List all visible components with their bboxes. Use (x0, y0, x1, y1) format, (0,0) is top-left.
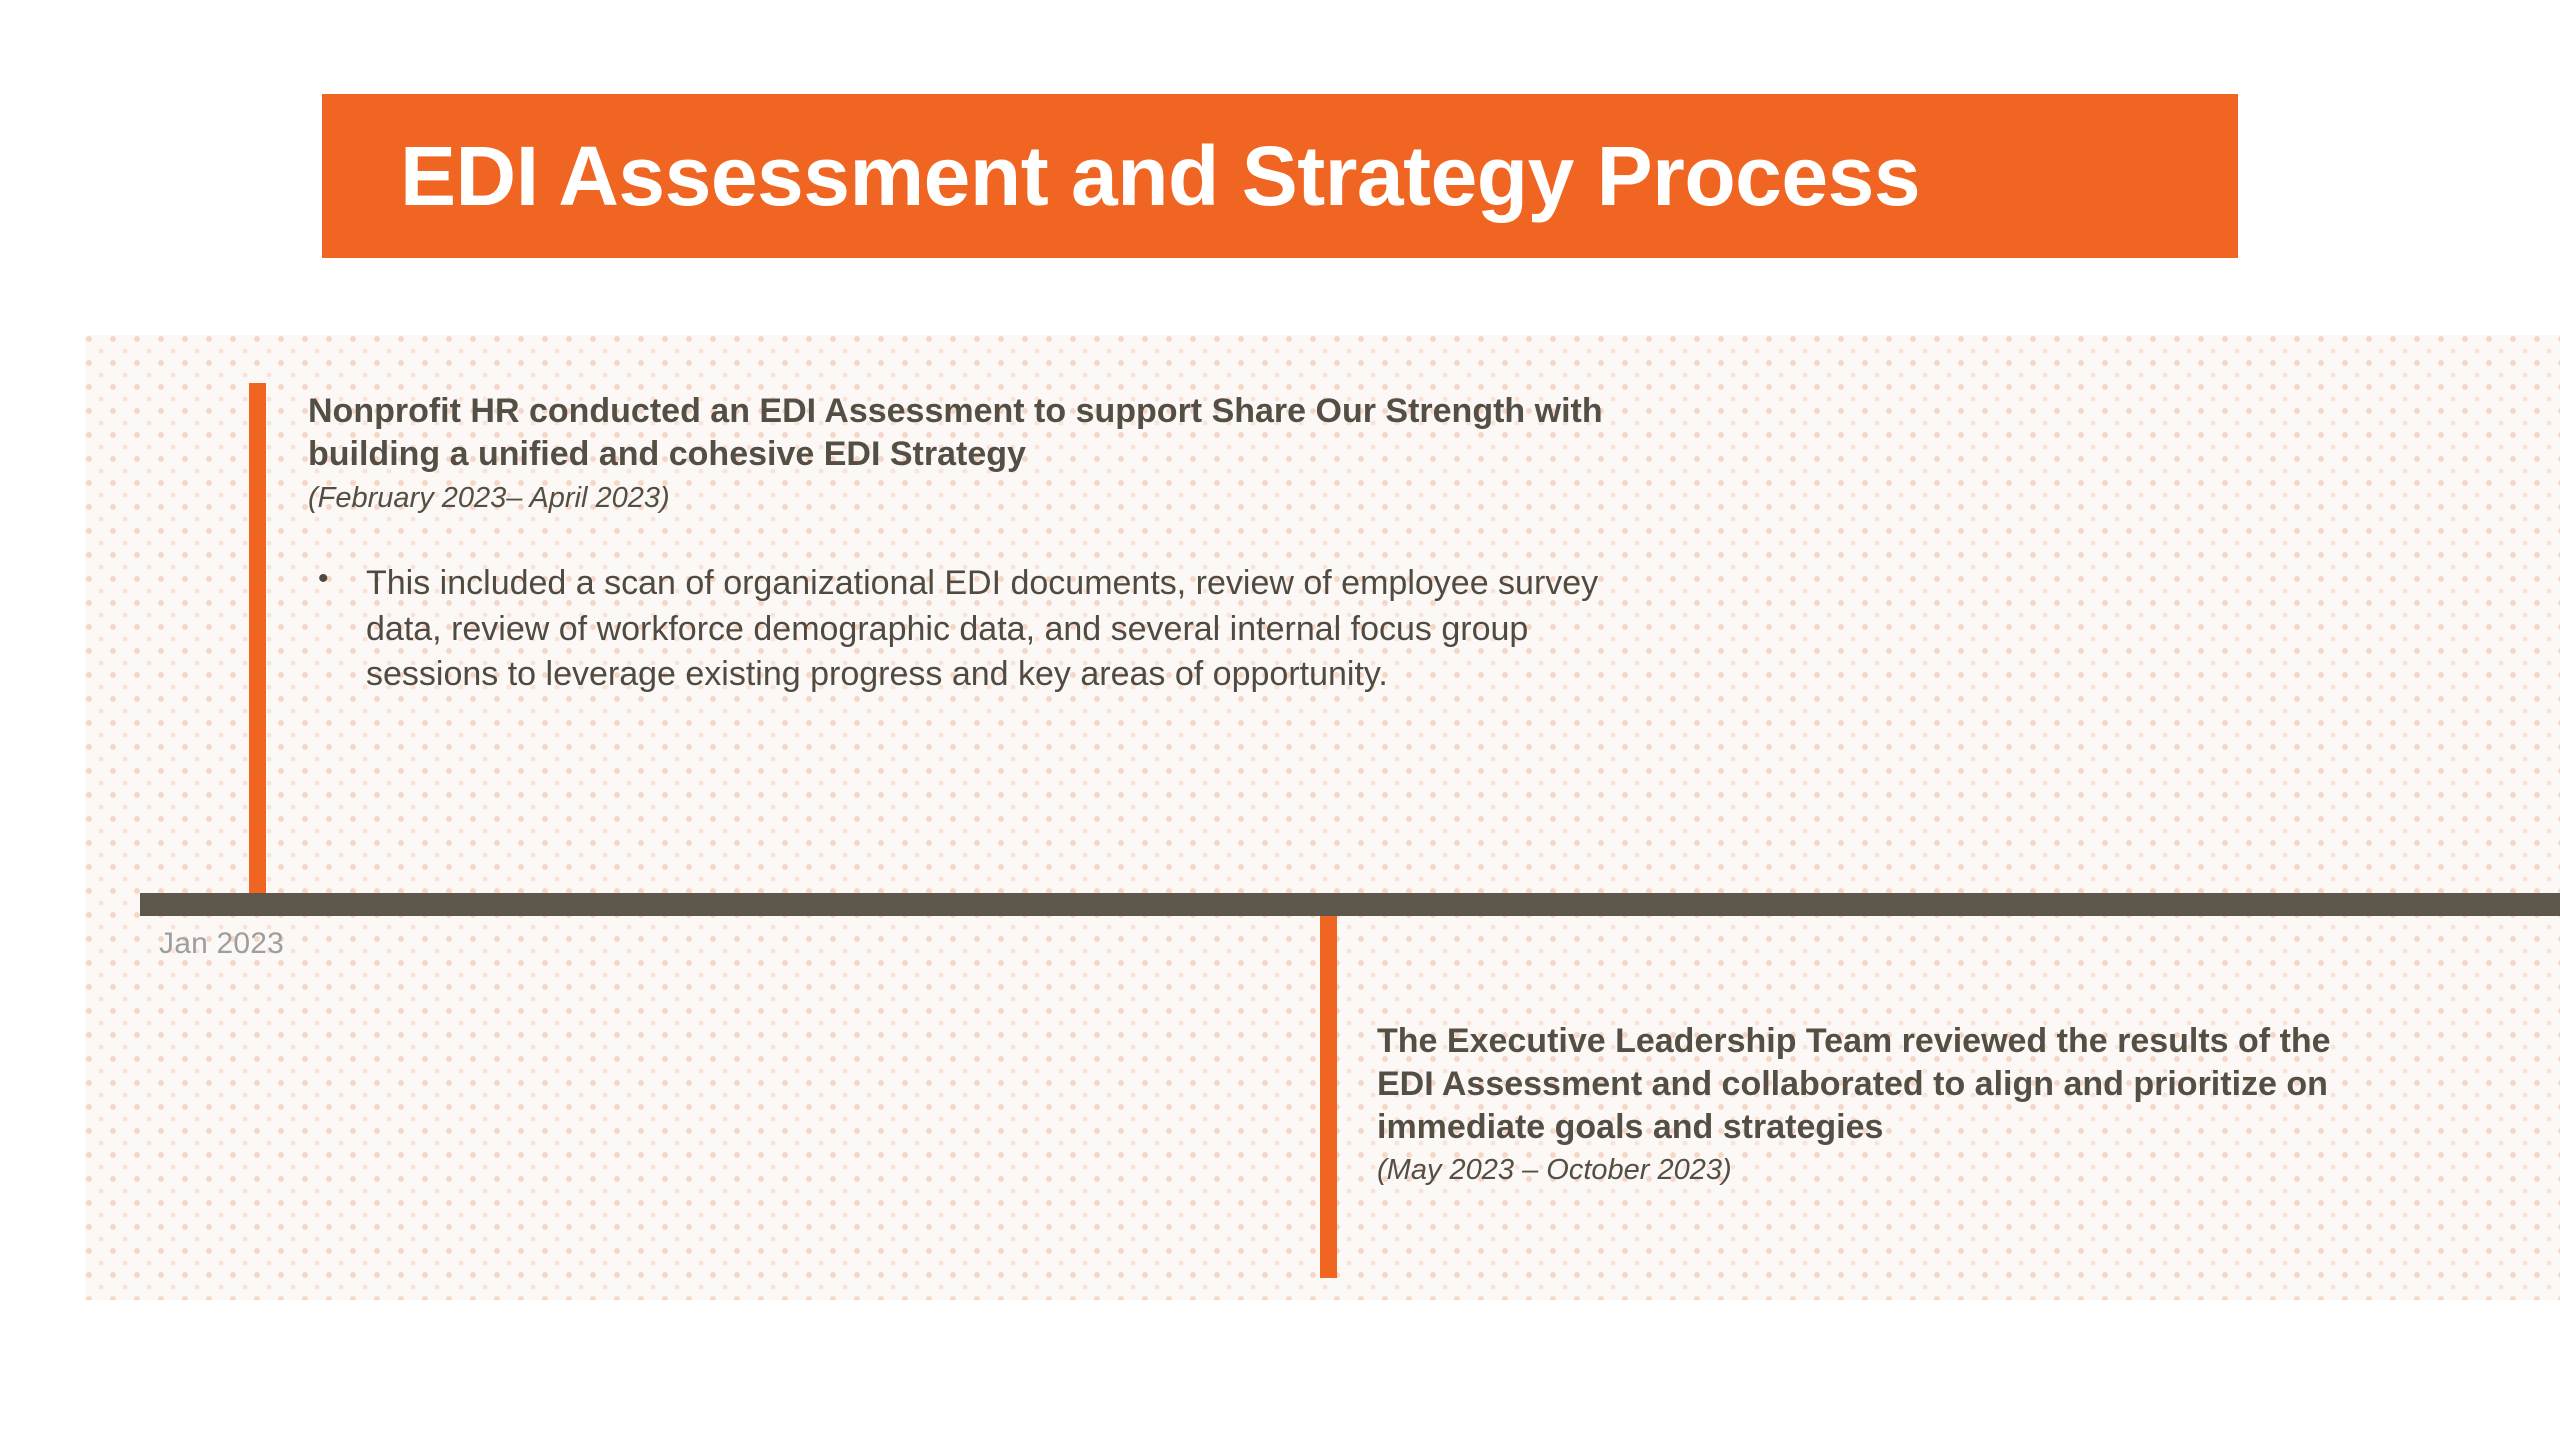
event-2-date-range: (May 2023 – October 2023) (1377, 1152, 2377, 1190)
timeline-event-2: The Executive Leadership Team reviewed t… (1377, 1020, 2377, 1190)
timeline-start-label: Jan 2023 (159, 927, 284, 961)
accent-rule-event-2 (1320, 916, 1337, 1278)
timeline-axis-bar (140, 893, 2560, 916)
accent-rule-event-1 (249, 383, 266, 894)
timeline-event-1: Nonprofit HR conducted an EDI Assessment… (308, 390, 1638, 697)
slide-title-banner: EDI Assessment and Strategy Process (322, 94, 2238, 258)
event-1-bullet-list: This included a scan of organizational E… (308, 561, 1638, 697)
event-2-heading: The Executive Leadership Team reviewed t… (1377, 1020, 2377, 1148)
event-1-heading: Nonprofit HR conducted an EDI Assessment… (308, 390, 1638, 476)
event-1-date-range: (February 2023– April 2023) (308, 480, 1638, 518)
page-title: EDI Assessment and Strategy Process (322, 134, 1920, 218)
list-item: This included a scan of organizational E… (308, 561, 1638, 697)
